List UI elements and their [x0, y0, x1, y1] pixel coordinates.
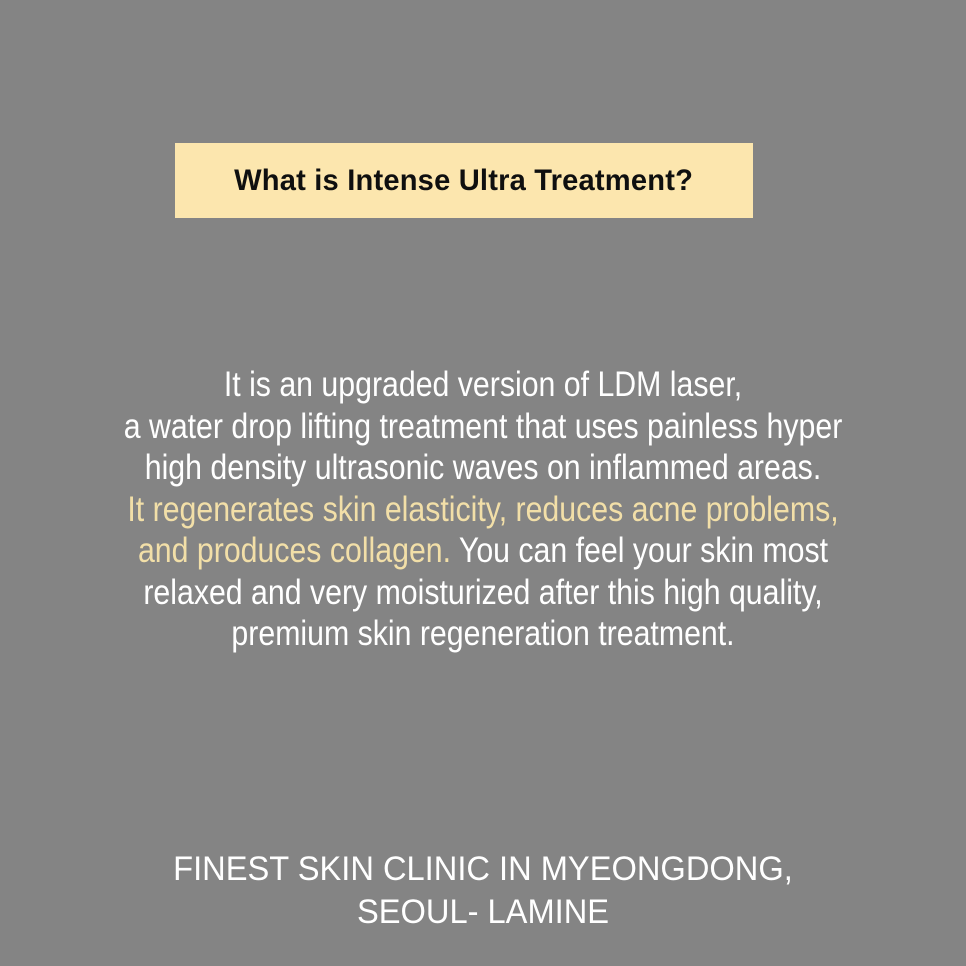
body-text-highlight: and produces collagen.: [138, 531, 451, 570]
footer-line: FINEST SKIN CLINIC IN MYEONGDONG,: [19, 848, 946, 891]
title-banner: What is Intense Ultra Treatment?: [175, 143, 753, 218]
body-line: and produces collagen. You can feel your…: [65, 530, 901, 572]
body-line: It regenerates skin elasticity, reduces …: [65, 489, 901, 531]
body-line: high density ultrasonic waves on inflamm…: [65, 447, 901, 489]
body-line: relaxed and very moisturized after this …: [65, 572, 901, 614]
body-text-run: premium skin regeneration treatment.: [231, 614, 734, 653]
body-text-run: You can feel your skin most: [451, 531, 828, 570]
body-line: a water drop lifting treatment that uses…: [65, 406, 901, 448]
body-line: premium skin regeneration treatment.: [65, 613, 901, 655]
body-text-highlight: It regenerates skin elasticity, reduces …: [127, 490, 838, 529]
promo-poster: What is Intense Ultra Treatment? It is a…: [0, 0, 966, 966]
footer-line: SEOUL- LAMINE: [19, 891, 946, 934]
footer-clinic-credit: FINEST SKIN CLINIC IN MYEONGDONG,SEOUL- …: [0, 848, 966, 934]
body-line: It is an upgraded version of LDM laser,: [65, 364, 901, 406]
body-text-run: relaxed and very moisturized after this …: [143, 573, 822, 612]
body-text-run: a water drop lifting treatment that uses…: [124, 407, 843, 446]
body-text-run: high density ultrasonic waves on inflamm…: [145, 448, 821, 487]
body-paragraph: It is an upgraded version of LDM laser,a…: [0, 364, 966, 655]
page-title: What is Intense Ultra Treatment?: [235, 166, 694, 196]
body-text-run: It is an upgraded version of LDM laser,: [224, 365, 742, 404]
